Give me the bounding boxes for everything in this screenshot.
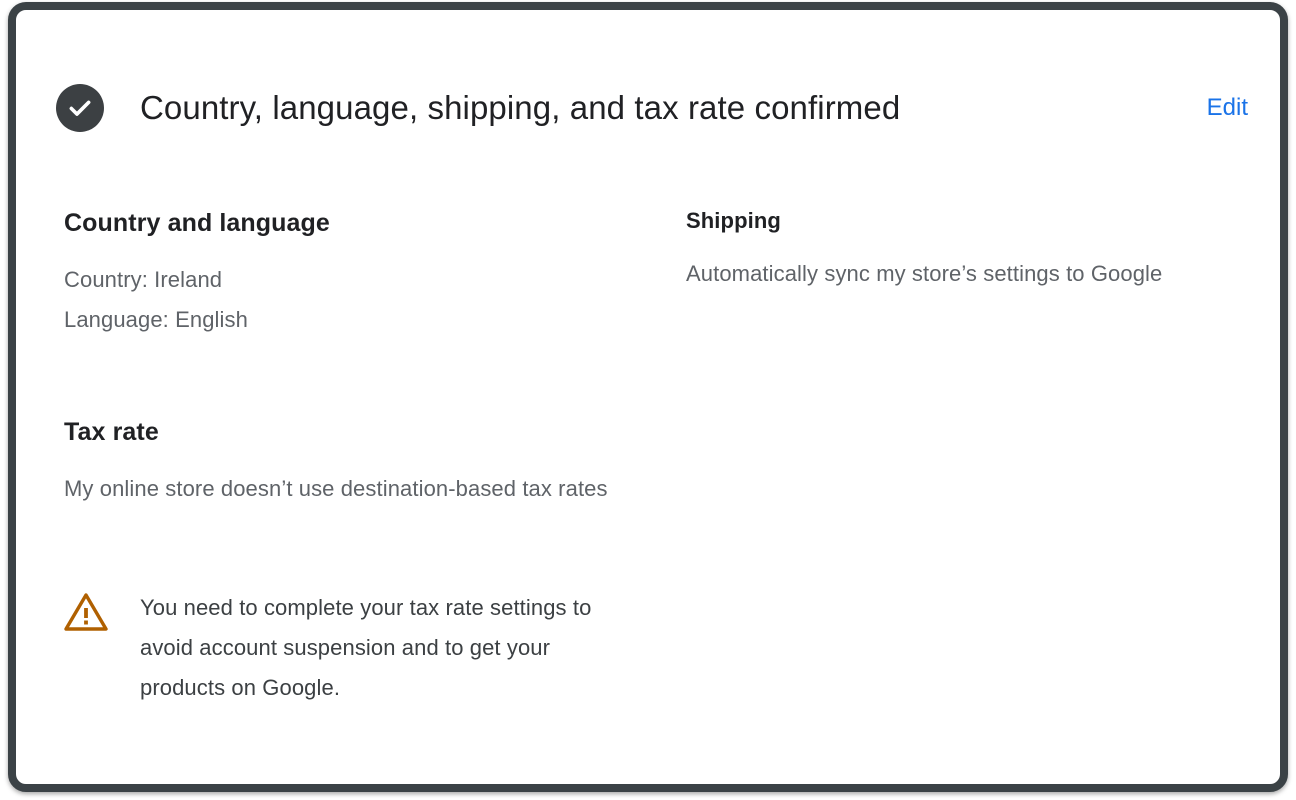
tax-rate-heading: Tax rate [64,415,644,449]
confirmation-card: Country, language, shipping, and tax rat… [8,2,1288,792]
screen-root: Country, language, shipping, and tax rat… [0,0,1296,800]
warning-triangle-icon [64,592,108,632]
country-language-details: Country: Ireland Language: English [64,260,634,340]
warning-message: You need to complete your tax rate setti… [140,588,640,708]
edit-button[interactable]: Edit [1207,82,1248,134]
shipping-heading: Shipping [686,206,1226,236]
tax-rate-warning: You need to complete your tax rate setti… [64,588,644,708]
tax-rate-description: My online store doesn’t use destination-… [64,469,644,509]
card-content: Country, language, shipping, and tax rat… [16,10,1280,784]
card-header: Country, language, shipping, and tax rat… [56,82,1248,134]
tax-rate-section: Tax rate My online store doesn’t use des… [64,415,644,509]
shipping-description: Automatically sync my store’s settings t… [686,254,1226,294]
page-title: Country, language, shipping, and tax rat… [140,82,900,134]
check-circle-icon [56,84,104,132]
language-value: Language: English [64,300,634,340]
shipping-section: Shipping Automatically sync my store’s s… [686,206,1226,294]
country-language-section: Country and language Country: Ireland La… [64,206,634,340]
country-language-heading: Country and language [64,206,634,240]
country-value: Country: Ireland [64,260,634,300]
